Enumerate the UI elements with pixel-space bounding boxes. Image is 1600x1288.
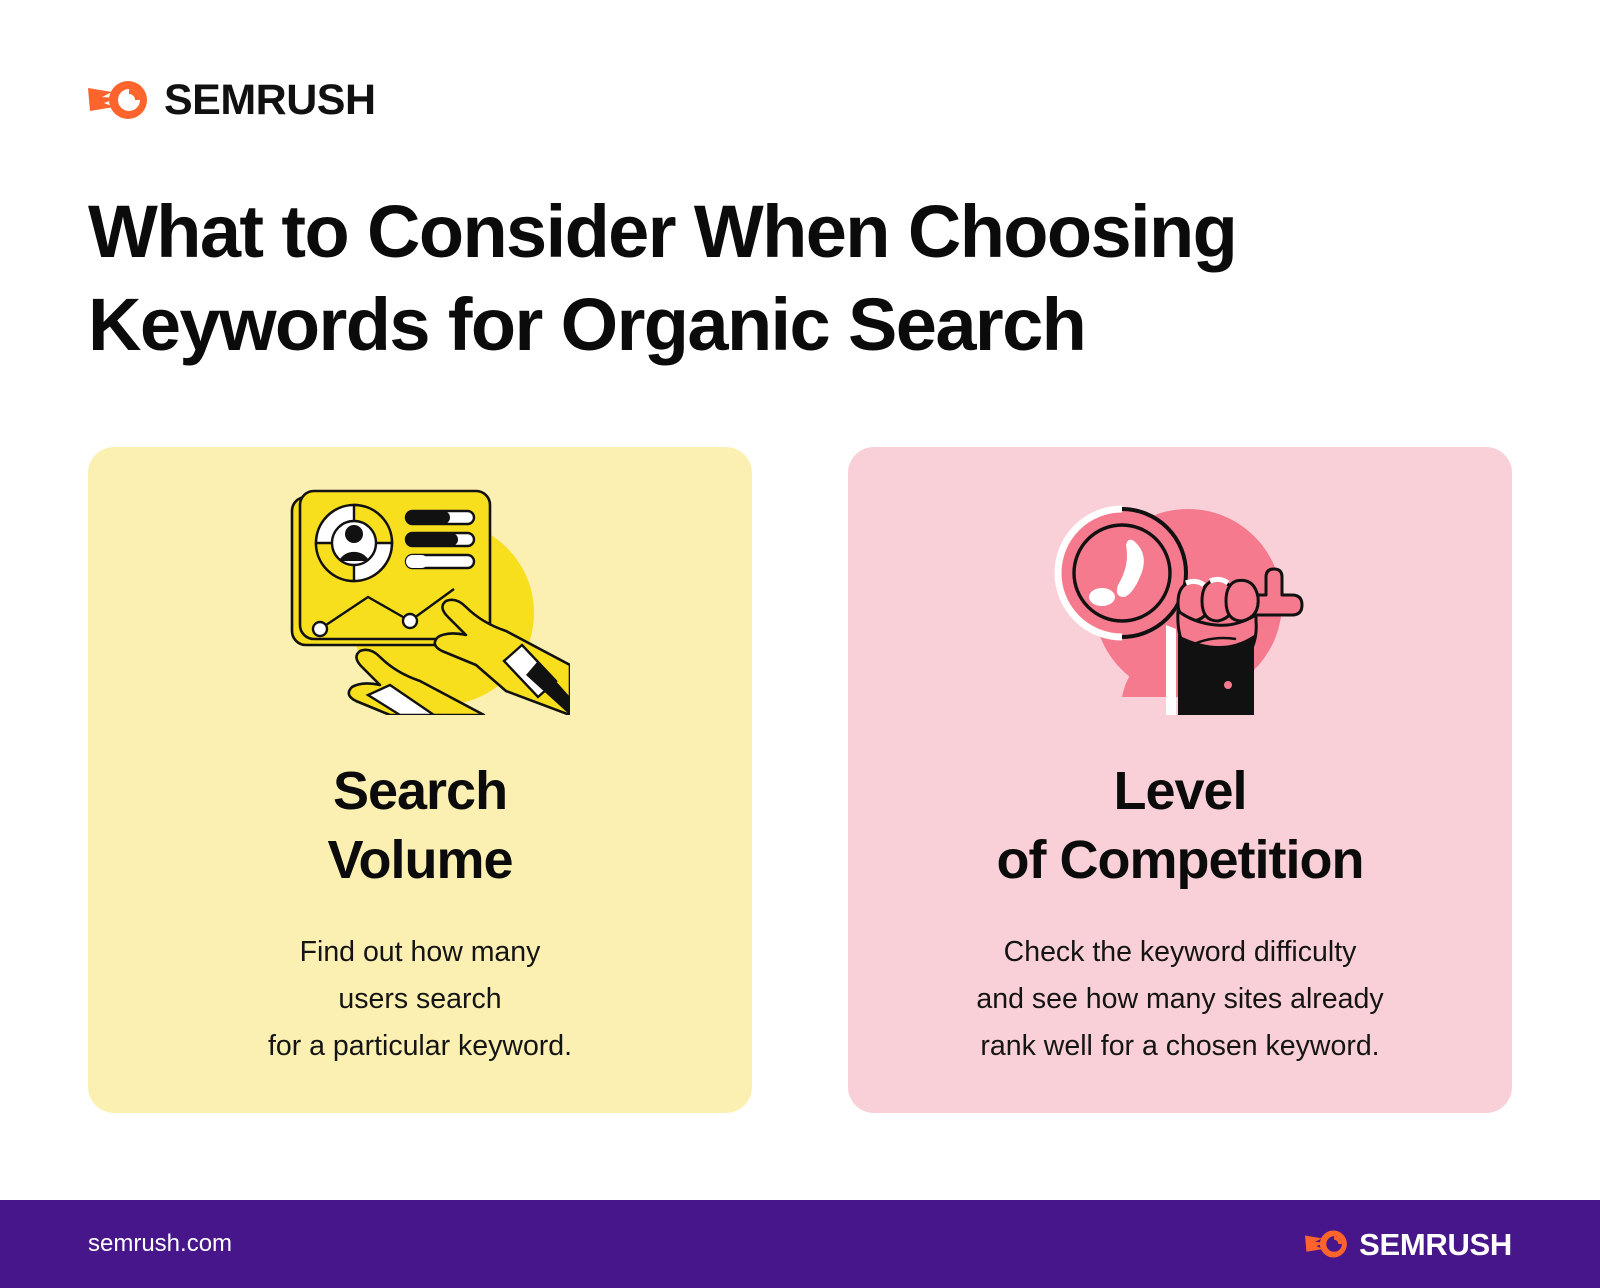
card-body-line-3: for a particular keyword. [268,1023,572,1070]
card-heading-line-2: Volume [327,826,512,895]
card-body-line-2: users search [268,976,572,1023]
card-heading-line-1: Search [327,757,512,826]
card-body-line-1: Check the keyword difficulty [976,929,1383,976]
footer-brand-logo: SEMRUSH [1305,1228,1512,1260]
card-heading-line-1: Level [997,757,1364,826]
page-title: What to Consider When Choosing Keywords … [88,186,1408,371]
cards-container: Search Volume Find out how many users se… [88,447,1512,1113]
card-body-search-volume: Find out how many users search for a par… [268,929,572,1070]
hand-holding-magnifying-glass-icon [1030,485,1330,715]
infographic-page: SEMRUSH What to Consider When Choosing K… [0,0,1600,1288]
hands-on-analytics-dashboard-icon [270,485,570,715]
footer-website-url[interactable]: semrush.com [88,1230,232,1258]
footer-bar: semrush.com SEMRUSH [0,1200,1600,1288]
card-body-level-of-competition: Check the keyword difficulty and see how… [976,929,1383,1070]
card-body-line-1: Find out how many [268,929,572,976]
card-heading-search-volume: Search Volume [327,757,512,895]
semrush-comet-icon [88,78,150,122]
card-search-volume: Search Volume Find out how many users se… [88,447,752,1113]
footer-brand-wordmark: SEMRUSH [1359,1229,1512,1260]
page-title-line-2: Keywords for Organic Search [88,279,1408,372]
card-level-of-competition: Level of Competition Check the keyword d… [848,447,1512,1113]
semrush-comet-icon [1305,1228,1349,1260]
brand-wordmark: SEMRUSH [164,79,376,122]
card-body-line-3: rank well for a chosen keyword. [976,1023,1383,1070]
card-body-line-2: and see how many sites already [976,976,1383,1023]
brand-logo: SEMRUSH [88,78,376,122]
page-title-line-1: What to Consider When Choosing [88,186,1408,279]
card-heading-level-of-competition: Level of Competition [997,757,1364,895]
card-heading-line-2: of Competition [997,826,1364,895]
